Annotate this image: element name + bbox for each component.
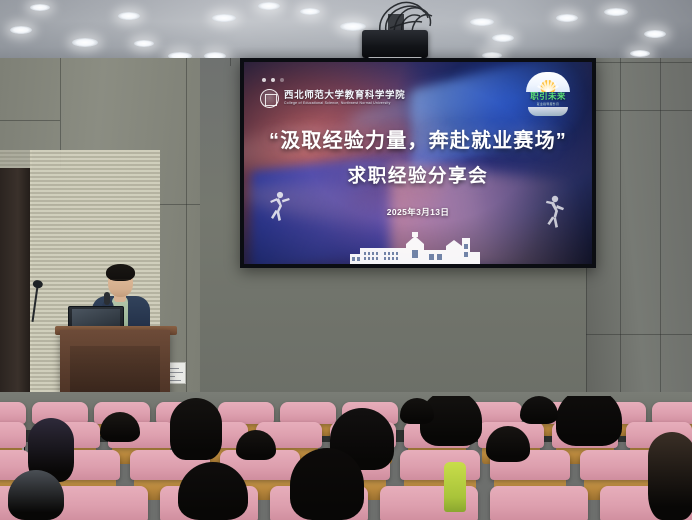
- auditorium-seat[interactable]: [400, 450, 480, 480]
- badge-base-shape: [528, 107, 568, 116]
- audience-member: [400, 398, 434, 424]
- campus-building-icon: [350, 230, 486, 264]
- ceiling-light: [212, 14, 236, 22]
- ceiling-projector: [362, 30, 428, 58]
- lecture-hall-photo: 西北师范大学教育科学学院 College of Educational Scie…: [0, 0, 692, 520]
- wall-seam: [230, 58, 231, 66]
- wall-seam: [620, 58, 621, 430]
- wall-seam: [586, 110, 692, 111]
- audience-member: [486, 426, 530, 462]
- auditorium-seat[interactable]: [280, 402, 336, 424]
- audience-member: [556, 396, 622, 446]
- slide-decorative-dots: [262, 78, 284, 82]
- audience-member: [170, 398, 222, 460]
- ceiling-light: [644, 30, 666, 38]
- university-seal-icon: [260, 89, 279, 108]
- ceiling-light: [118, 12, 140, 20]
- right-wall: [586, 58, 692, 430]
- auditorium-seat[interactable]: [218, 402, 274, 424]
- audience-seating: [0, 396, 692, 520]
- wall-seam: [186, 58, 187, 430]
- wall-seam: [586, 334, 692, 335]
- auditorium-seat[interactable]: [490, 486, 588, 520]
- ceiling-shading: [0, 0, 692, 62]
- ceiling-light: [340, 22, 366, 31]
- runner-right-icon: [542, 194, 568, 230]
- audience-member: [8, 470, 64, 520]
- audience-member: [290, 448, 364, 520]
- ceiling-light: [300, 8, 320, 15]
- ceiling-light: [258, 2, 280, 10]
- event-badge: 职引未来 就业指导服务月: [520, 72, 576, 118]
- slide-surface: 西北师范大学教育科学学院 College of Educational Scie…: [244, 62, 592, 264]
- auditorium-seat[interactable]: [652, 402, 692, 424]
- side-door[interactable]: [0, 168, 30, 412]
- ceiling-light: [72, 38, 98, 47]
- ceiling-light: [134, 40, 154, 47]
- institution-logo: 西北师范大学教育科学学院 College of Educational Scie…: [260, 89, 405, 108]
- auditorium-seat[interactable]: [0, 422, 26, 448]
- institution-name-en: College of Educational Science, Northwes…: [284, 102, 405, 105]
- auditorium-seat[interactable]: [0, 402, 26, 424]
- speaker-glasses: [110, 279, 131, 283]
- wall-seam: [660, 58, 661, 430]
- wall-seam: [586, 62, 692, 63]
- wall-seam: [0, 120, 60, 121]
- audience-member: [520, 396, 558, 424]
- projector-cables: [372, 0, 442, 34]
- runner-left-icon: [266, 190, 292, 224]
- handheld-microphone: [104, 292, 110, 305]
- audience-member-green-jacket: [444, 462, 466, 512]
- sun-icon: [526, 72, 570, 92]
- ceiling-light: [630, 50, 650, 57]
- badge-subtitle: 就业指导服务月: [537, 102, 559, 106]
- ceiling-light: [556, 14, 578, 22]
- ceiling-light: [492, 34, 514, 42]
- audience-member: [648, 432, 692, 520]
- ceiling-light: [10, 26, 32, 34]
- ceiling-light: [30, 4, 50, 11]
- ceiling-light: [604, 8, 628, 16]
- ceiling-light: [470, 18, 494, 26]
- institution-name-cn: 西北师范大学教育科学学院: [284, 91, 405, 101]
- auditorium-seat[interactable]: [50, 486, 148, 520]
- projection-screen[interactable]: 西北师范大学教育科学学院 College of Educational Scie…: [240, 58, 596, 268]
